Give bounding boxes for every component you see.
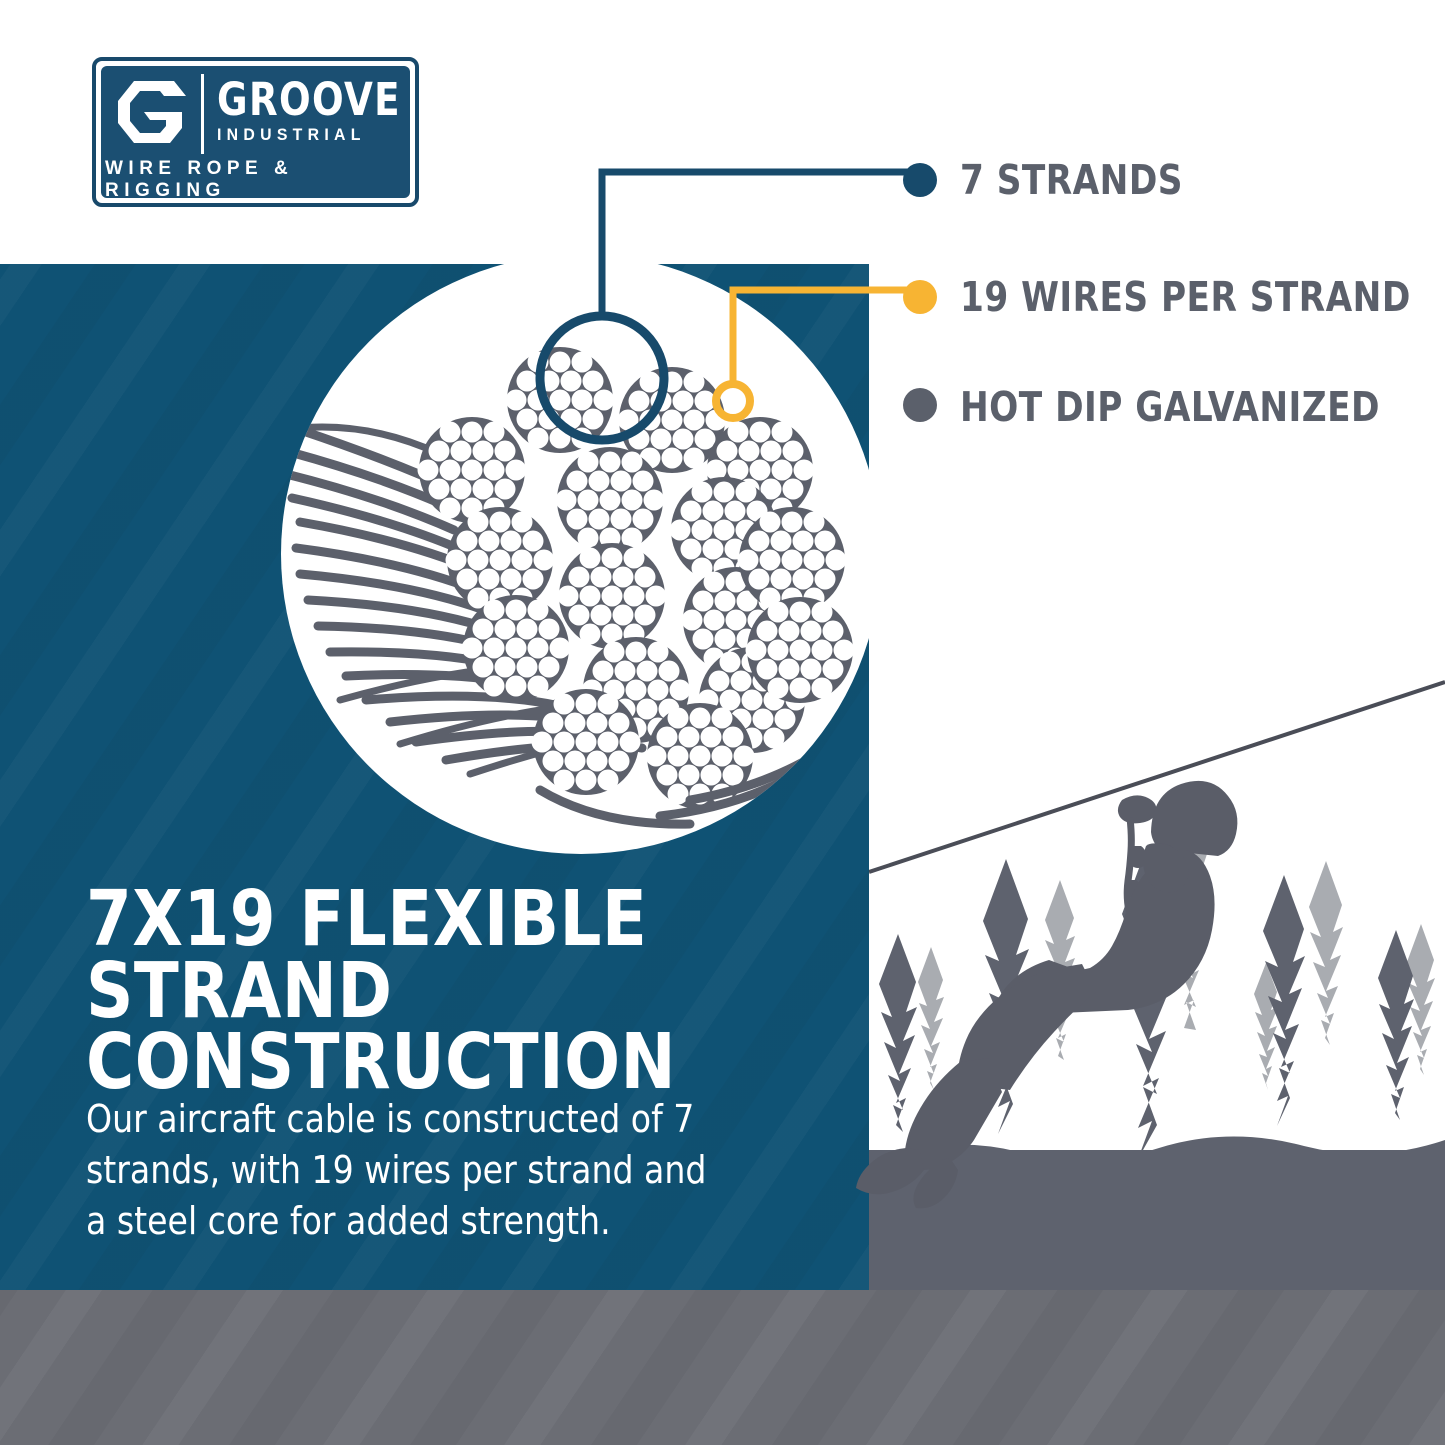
groove-g-monogram-icon (101, 79, 201, 145)
diagram-circle-backdrop (281, 254, 881, 854)
pine-forest-back (918, 803, 1435, 1090)
footer-bar (0, 1290, 1445, 1445)
callout-dot-wires (903, 280, 937, 314)
zipline-cable-line (869, 682, 1445, 872)
logo-name: GROOVE (217, 79, 401, 122)
callout-label-hot-dip-galvanized: HOT DIP GALVANIZED (960, 383, 1380, 431)
body-description: Our aircraft cable is constructed of 7 s… (86, 1094, 726, 1247)
logo-inner-frame: GROOVE INDUSTRIAL WIRE ROPE & RIGGING (101, 66, 410, 198)
infographic-poster: 7 STRANDS 19 WIRES PER STRAND HOT DIP GA… (0, 0, 1445, 1445)
logo-top-row: GROOVE INDUSTRIAL (101, 66, 410, 158)
footer-stripe-texture (0, 1290, 1445, 1445)
brand-logo[interactable]: GROOVE INDUSTRIAL WIRE ROPE & RIGGING (92, 57, 419, 207)
zipline-rider-silhouette (856, 781, 1237, 1208)
logo-subtitle: INDUSTRIAL (217, 126, 409, 145)
callout-dot-strands (903, 163, 937, 197)
logo-tagline: WIRE ROPE & RIGGING (101, 158, 410, 198)
logo-wordmark: GROOVE INDUSTRIAL (201, 79, 410, 145)
callout-label-wires-per-strand: 19 WIRES PER STRAND (960, 273, 1411, 321)
pine-forest-front (879, 844, 1414, 1159)
callout-label-strands: 7 STRANDS (960, 156, 1183, 204)
headline-line-2: STRAND CONSTRUCTION (86, 956, 808, 1099)
page-title: 7X19 FLEXIBLE STRAND CONSTRUCTION (86, 884, 808, 1099)
logo-divider (201, 74, 204, 154)
callout-dot-galvanized (903, 388, 937, 422)
forest-ground (869, 1150, 1445, 1300)
